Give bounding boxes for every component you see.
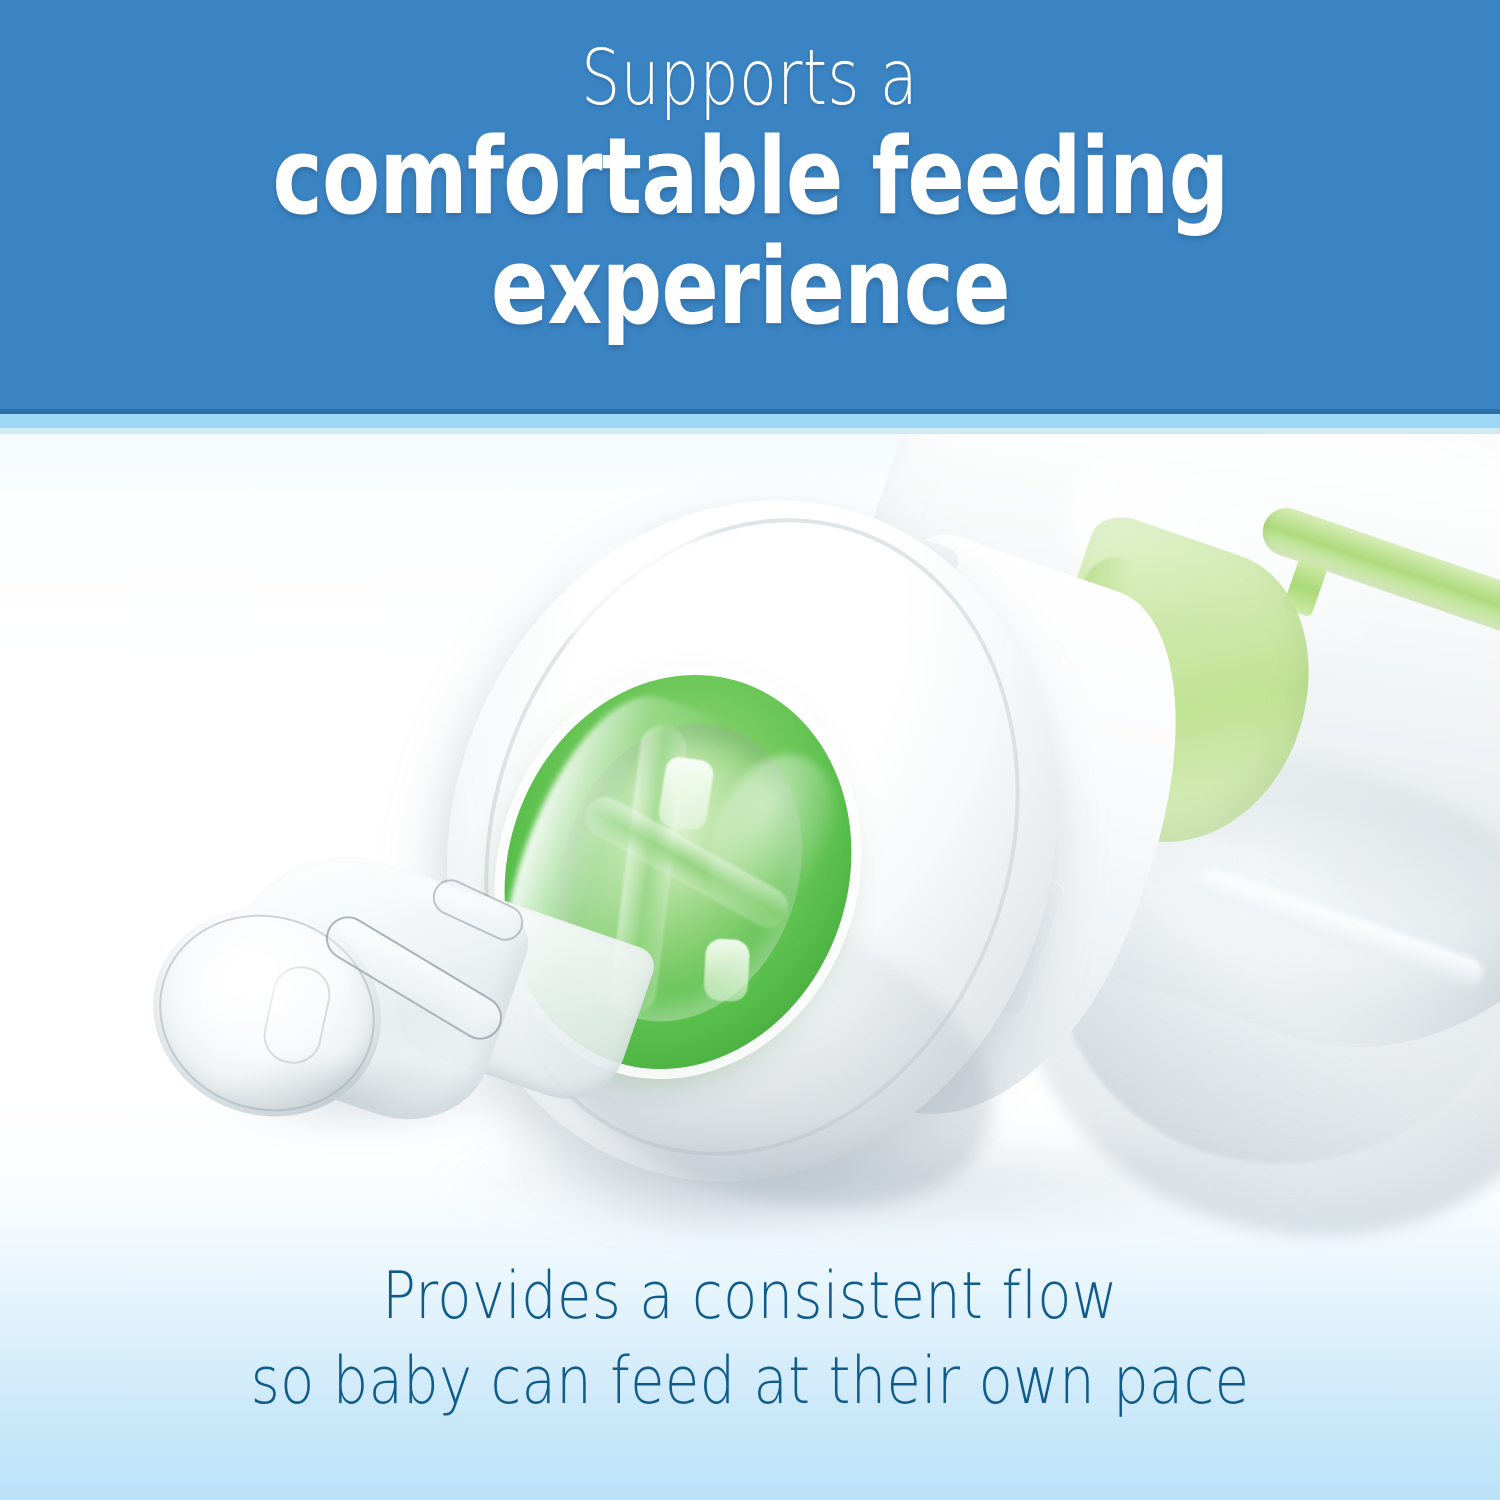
headline-line-1: Supports a xyxy=(582,42,919,115)
vent-valve-window-lower xyxy=(703,938,750,1002)
headline-line-2: comfortable feeding xyxy=(272,123,1228,231)
header-banner: Supports a comfortable feeding experienc… xyxy=(0,0,1500,413)
banner-accent-strip xyxy=(0,414,1500,428)
product-photo-stage: green airfree vent valve ANTI-COL xyxy=(0,434,1500,1500)
caption-line-1: Provides a consistent flow xyxy=(105,1255,1395,1340)
caption-line-2: so baby can feed at their own pace xyxy=(105,1340,1395,1425)
product-feature-image: Supports a comfortable feeding experienc… xyxy=(0,0,1500,1500)
teat-highlight xyxy=(196,944,316,1044)
footer-caption: Provides a consistent flow so baby can f… xyxy=(0,1255,1500,1424)
headline-line-3: experience xyxy=(490,233,1009,341)
teat-shadow xyxy=(210,1064,510,1144)
product-contact-shadow xyxy=(420,1124,1320,1244)
